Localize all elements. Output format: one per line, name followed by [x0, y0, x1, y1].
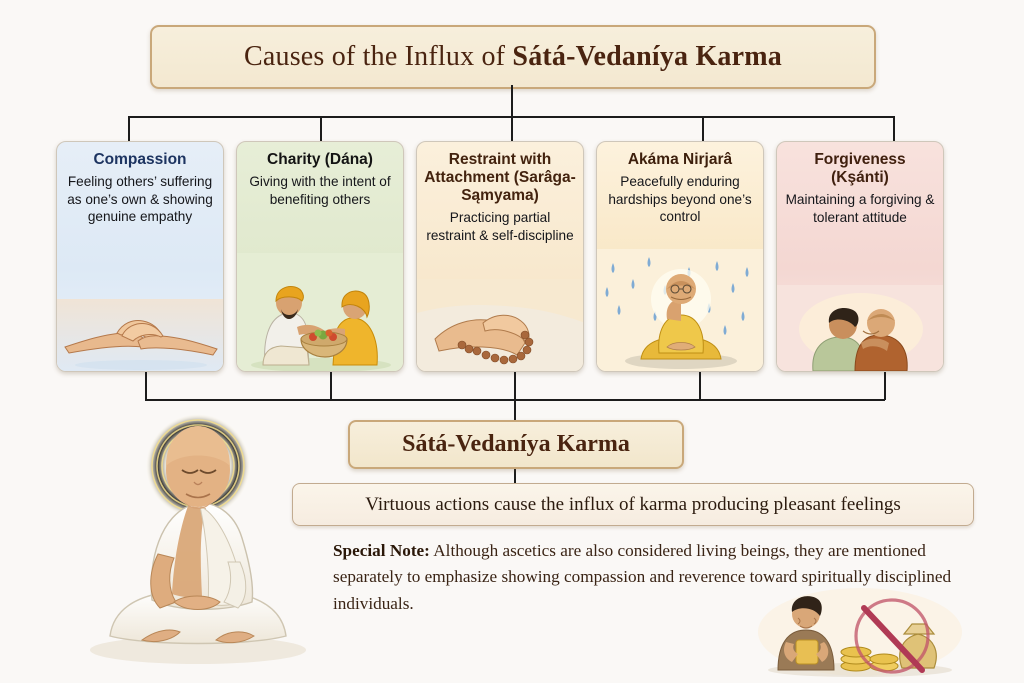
man-renouncing-gold-coins-illustration	[752, 586, 972, 678]
cause-card-compassion[interactable]: Compassion Feeling others’ suffering as …	[56, 141, 224, 372]
hands-with-prayer-beads-icon	[417, 279, 583, 371]
result-box: Sátá-Vedaníya Karma	[348, 420, 684, 469]
connector-title-down	[511, 85, 513, 117]
cause-card-heading: Restraint with Attachment (Sarâga-Sąmyam…	[424, 151, 576, 205]
two-open-hands-giving-icon	[57, 279, 223, 371]
result-banner: Virtuous actions cause the influx of kar…	[292, 483, 974, 526]
meditating-ascetic-with-halo-illustration	[48, 404, 348, 670]
connector-down-card-2	[320, 116, 322, 142]
cause-card-body: Giving with the intent of benefiting oth…	[244, 173, 396, 208]
two-people-embracing-icon	[777, 285, 943, 371]
cause-card-heading: Compassion	[93, 151, 186, 169]
connector-up-card-3	[514, 372, 516, 400]
cause-card-row: Compassion Feeling others’ suffering as …	[56, 141, 974, 372]
connector-up-card-5	[884, 372, 886, 400]
connector-down-card-5	[893, 116, 895, 142]
cause-card-body: Maintaining a forgiving & tolerant attit…	[784, 191, 936, 226]
result-banner-text: Virtuous actions cause the influx of kar…	[365, 494, 900, 516]
page-title-plain: Causes of the Influx of	[244, 41, 512, 72]
diagram-canvas: Causes of the Influx of Sátá-Vedaníya Ka…	[0, 0, 1024, 683]
cause-card-forgiveness[interactable]: Forgiveness (Kşánti) Maintaining a forgi…	[776, 141, 944, 372]
cause-card-restraint[interactable]: Restraint with Attachment (Sarâga-Sąmyam…	[416, 141, 584, 372]
cause-card-body: Feeling others’ suffering as one’s own &…	[64, 173, 216, 226]
man-and-woman-offering-bowl-icon	[237, 253, 403, 371]
cause-card-body: Practicing partial restraint & self-disc…	[424, 209, 576, 244]
connector-down-result	[514, 399, 516, 421]
connector-down-card-1	[128, 116, 130, 142]
connector-down-card-3	[511, 116, 513, 142]
cause-card-charity[interactable]: Charity (Dána) Giving with the intent of…	[236, 141, 404, 372]
result-label: Sátá-Vedaníya Karma	[402, 431, 630, 458]
diagram-title-box: Causes of the Influx of Sátá-Vedaníya Ka…	[150, 25, 876, 89]
page-title-bold: Sátá-Vedaníya Karma	[512, 41, 782, 72]
cause-card-heading: Charity (Dána)	[267, 151, 373, 169]
connector-down-card-4	[702, 116, 704, 142]
page-title: Causes of the Influx of Sátá-Vedaníya Ka…	[244, 41, 782, 73]
cause-card-akama-nirjara[interactable]: Akáma Nirjarâ Peacefully enduring hardsh…	[596, 141, 764, 372]
cause-card-heading: Akáma Nirjarâ	[628, 151, 732, 169]
cause-card-heading: Forgiveness (Kşánti)	[784, 151, 936, 187]
connector-up-card-1	[145, 372, 147, 400]
connector-up-card-2	[330, 372, 332, 400]
monk-meditating-in-rain-icon	[597, 249, 763, 371]
connector-up-card-4	[699, 372, 701, 400]
cause-card-body: Peacefully enduring hardships beyond one…	[604, 173, 756, 226]
